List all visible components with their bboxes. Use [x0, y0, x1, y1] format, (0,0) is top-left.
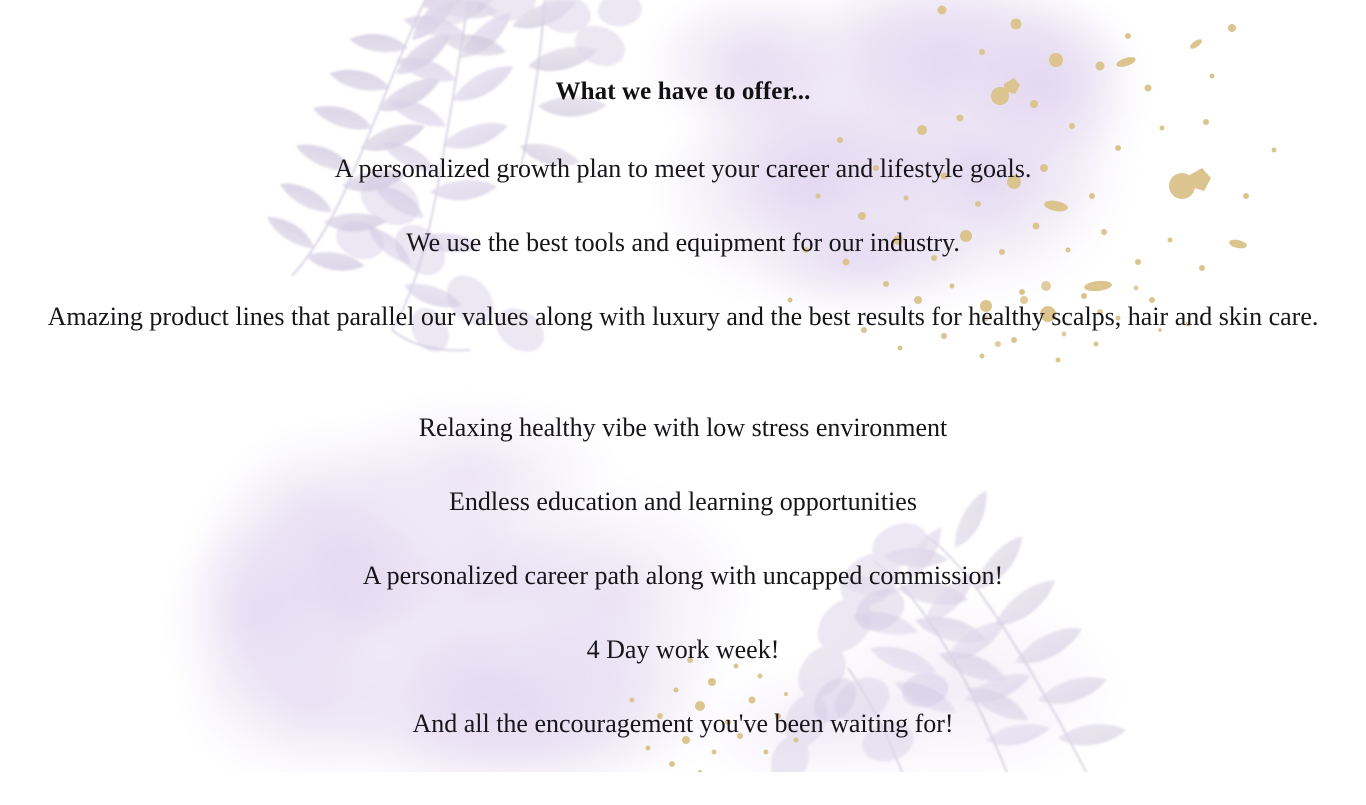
- offer-line: And all the encouragement you've been wa…: [8, 705, 1358, 742]
- offer-line: Relaxing healthy vibe with low stress en…: [8, 409, 1358, 446]
- offer-line: A personalized growth plan to meet your …: [8, 150, 1358, 187]
- offer-poster: What we have to offer... A personalized …: [0, 0, 1366, 805]
- offer-line: A personalized career path along with un…: [8, 557, 1358, 594]
- offer-line: We use the best tools and equipment for …: [8, 224, 1358, 261]
- offer-line: Amazing product lines that parallel our …: [8, 298, 1358, 335]
- offer-line: Endless education and learning opportuni…: [8, 483, 1358, 520]
- offer-line: 4 Day work week!: [8, 631, 1358, 668]
- offer-text-block: What we have to offer... A personalized …: [0, 0, 1366, 805]
- page-title: What we have to offer...: [0, 76, 1366, 108]
